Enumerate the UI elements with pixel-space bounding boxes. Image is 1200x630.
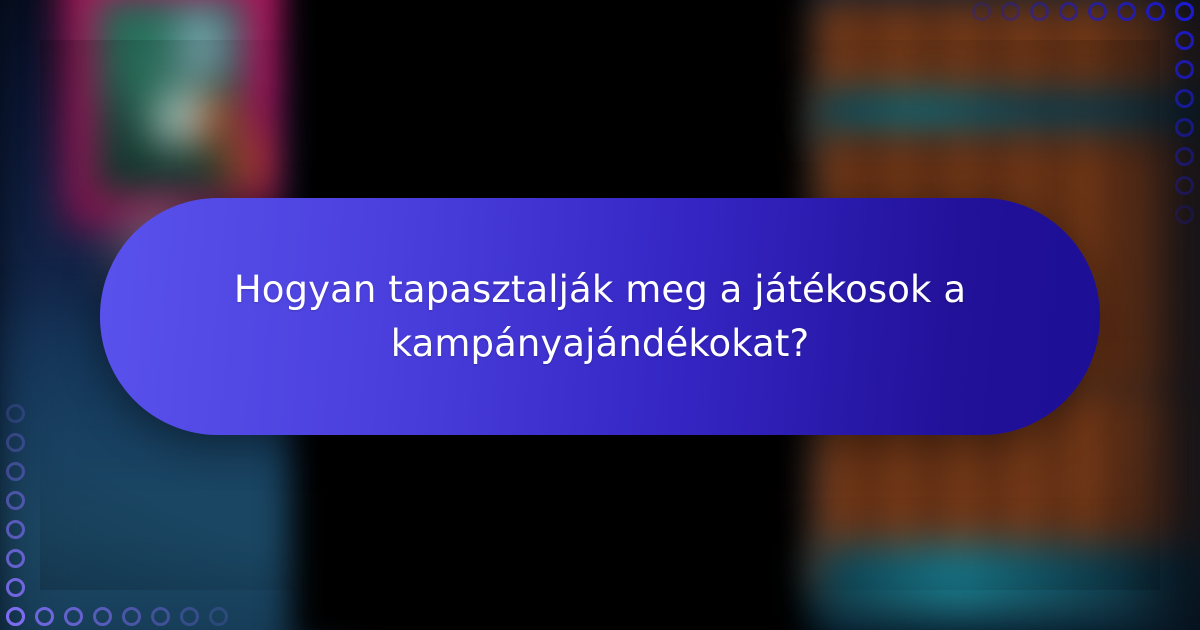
decor-dot-bottom-4 — [122, 607, 141, 626]
decor-dot-top-1 — [1001, 2, 1020, 21]
decor-dot-left-6 — [6, 578, 25, 597]
decor-dot-right-1 — [1175, 31, 1194, 50]
decor-dot-bottom-2 — [64, 607, 83, 626]
decor-dot-top-5 — [1117, 2, 1136, 21]
decor-dot-left-0 — [6, 404, 25, 423]
decor-dots-bottom-left — [6, 607, 228, 626]
headline-card: Hogyan tapasztalják meg a játékosok a ka… — [100, 198, 1100, 435]
headline-text: Hogyan tapasztalják meg a játékosok a ka… — [220, 263, 980, 370]
decor-dot-left-2 — [6, 462, 25, 481]
decor-dot-right-3 — [1175, 89, 1194, 108]
decor-dot-bottom-3 — [93, 607, 112, 626]
decor-dot-top-3 — [1059, 2, 1078, 21]
decor-dot-right-0 — [1175, 2, 1194, 21]
decor-dot-top-0 — [972, 2, 991, 21]
decor-dots-top-right — [972, 2, 1194, 21]
decor-dot-left-3 — [6, 491, 25, 510]
decor-dot-top-2 — [1030, 2, 1049, 21]
decor-dot-left-5 — [6, 549, 25, 568]
decor-dots-left-column — [6, 404, 25, 626]
decor-dot-right-6 — [1175, 176, 1194, 195]
decor-dot-right-7 — [1175, 205, 1194, 224]
decor-dot-right-2 — [1175, 60, 1194, 79]
decor-dot-bottom-6 — [180, 607, 199, 626]
decor-dot-bottom-1 — [35, 607, 54, 626]
decor-dot-bottom-7 — [209, 607, 228, 626]
decor-dot-right-4 — [1175, 118, 1194, 137]
decor-dot-right-5 — [1175, 147, 1194, 166]
decor-dot-top-6 — [1146, 2, 1165, 21]
decor-dot-left-7 — [6, 607, 25, 626]
decor-dot-left-4 — [6, 520, 25, 539]
decor-dot-left-1 — [6, 433, 25, 452]
decor-dot-bottom-5 — [151, 607, 170, 626]
screenshot-stage: Hogyan tapasztalják meg a játékosok a ka… — [0, 0, 1200, 630]
decor-dots-right-column — [1175, 2, 1194, 224]
decor-dot-top-4 — [1088, 2, 1107, 21]
